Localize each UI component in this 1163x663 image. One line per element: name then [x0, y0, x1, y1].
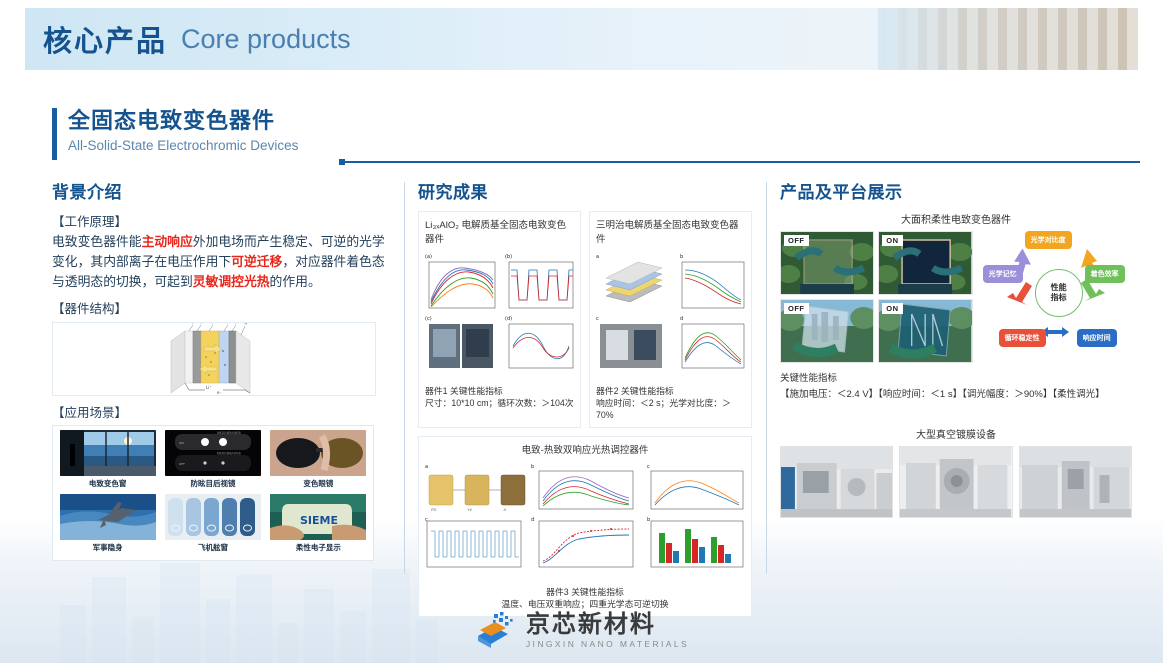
principle-text-1: 电致变色器件能 — [52, 234, 142, 249]
principle-label: 【工作原理】 — [52, 211, 392, 230]
section-title-cn: 全固态电致变色器件 — [68, 108, 298, 134]
column-background: 背景介绍 【工作原理】 电致变色器件能主动响应外加电场而产生稳定、可逆的光学变化… — [52, 178, 392, 561]
radial-node-cycling-stability: 循环稳定性 — [999, 329, 1046, 347]
svg-text:ITO: ITO — [431, 508, 437, 512]
svg-text:+V: +V — [467, 508, 473, 512]
section-rule — [345, 161, 1140, 163]
radial-node-coloration-efficiency: 着色效率 — [1085, 265, 1125, 283]
product-photo-grid: OFF ON — [780, 231, 973, 363]
app-scenario-item: ONOFF 防眩目后视镜关闭状态防眩目后视镜开启状态 防眩目后视镜 — [162, 430, 263, 492]
svg-text:Li⁺: Li⁺ — [206, 385, 211, 390]
vacuum-chamber-image-3 — [1020, 447, 1131, 517]
footer-divider — [0, 652, 1163, 653]
header-decorative-image — [878, 8, 1138, 70]
slide-footer: 京芯新材料 JINGXIN NANO MATERIALS — [0, 599, 1163, 663]
principle-text-4: 的作用。 — [270, 274, 321, 289]
principle-highlight-2: 可逆迁移 — [231, 254, 282, 269]
svg-text:(b): (b) — [505, 254, 512, 260]
app-caption: 电致变色窗 — [89, 478, 127, 489]
panel-2-caption-line1: 器件2 关键性能指标 — [596, 385, 745, 397]
svg-text:a: a — [425, 464, 428, 470]
svg-text:c: c — [596, 316, 599, 322]
radial-node-response-time: 响应时间 — [1077, 329, 1117, 347]
column-products: 产品及平台展示 大面积柔性电致变色器件 OFF — [780, 178, 1132, 518]
panel-1-figure: (a)(b) (c)(d) — [419, 248, 580, 376]
performance-radial-diagram: 性能 指标 光学对比度 着色效率 响应时间 循环稳定性 光学记忆 — [985, 231, 1132, 351]
panel-2-title: 三明治电解质基全固态电致变色器件 — [590, 212, 751, 248]
company-name-cn: 京芯新材料 — [526, 613, 689, 637]
vacuum-photo — [899, 446, 1012, 518]
panel-2-caption-line2: 响应时间：＜2 s；光学对比度：＞70% — [596, 397, 745, 421]
section-accent-bar — [52, 108, 57, 160]
vacuum-chamber-image-1 — [781, 447, 892, 517]
section-title: 全固态电致变色器件 All-Solid-State Electrochromic… — [52, 108, 298, 160]
svg-text:防眩目后视镜开启状态: 防眩目后视镜开启状态 — [217, 451, 242, 455]
research-panel-1: Li₃ₓAlO₂ 电解质基全固态电致变色器件 (a)(b) (c)(d) — [418, 211, 581, 428]
svg-text:(c): (c) — [425, 316, 432, 322]
research-panel-2: 三明治电解质基全固态电致变色器件 ab cd — [589, 211, 752, 428]
photo-state-badge: OFF — [784, 235, 809, 246]
radial-center-line2: 指标 — [1051, 293, 1067, 302]
radial-center-line1: 性能 — [1051, 283, 1067, 292]
app-caption: 防眩目后视镜 — [190, 478, 235, 489]
svg-text:ON: ON — [179, 441, 184, 445]
app-caption: 变色眼镜 — [303, 478, 333, 489]
product-photo: ON — [878, 299, 972, 363]
vacuum-photo — [780, 446, 893, 518]
app-caption: 柔性电子显示 — [296, 542, 341, 553]
vacuum-equipment-grid — [780, 446, 1132, 518]
svg-text:透明电极: 透明电极 — [242, 323, 252, 325]
anti-glare-mirror-image: ONOFF 防眩目后视镜关闭状态防眩目后视镜开启状态 — [165, 430, 261, 476]
panel-1-caption-line1: 器件1 关键性能指标 — [425, 385, 574, 397]
panel-3-title: 电致-热致双响应光热调控器件 — [419, 437, 751, 459]
app-scenario-item: 变色眼镜 — [268, 430, 369, 492]
product-photo: OFF — [780, 231, 874, 295]
principle-highlight-1: 主动响应 — [142, 234, 193, 249]
principle-paragraph: 电致变色器件能主动响应外加电场而产生稳定、可逆的光学变化，其内部离子在电压作用下… — [52, 232, 392, 292]
vacuum-equipment-title: 大型真空镀膜设备 — [780, 426, 1132, 441]
column-divider-2 — [766, 182, 767, 574]
panel-1-caption-line2: 尺寸：10*10 cm；循环次数：＞104次 — [425, 397, 574, 409]
panel-2-caption: 器件2 关键性能指标 响应时间：＜2 s；光学对比度：＞70% — [590, 381, 751, 427]
svg-text:e⁻: e⁻ — [217, 390, 222, 395]
panel-2-figure: ab cd — [590, 248, 751, 376]
svg-text:SIEME: SIEME — [300, 514, 338, 527]
app-scenario-item: 军事隐身 — [57, 494, 158, 556]
svg-text:a: a — [596, 254, 599, 260]
column-divider-1 — [404, 182, 405, 574]
svg-text:b: b — [531, 464, 534, 470]
radial-node-optical-contrast: 光学对比度 — [1025, 231, 1072, 249]
principle-highlight-3: 灵敏调控光热 — [193, 274, 270, 289]
vacuum-chamber-image-2 — [900, 447, 1011, 517]
company-name-en: JINGXIN NANO MATERIALS — [526, 639, 689, 649]
svg-text:(a): (a) — [425, 254, 432, 260]
flexible-display-image: SIEME — [270, 494, 366, 540]
structure-label: 【器件结构】 — [52, 298, 392, 317]
flexible-device-title: 大面积柔性电致变色器件 — [780, 211, 1132, 226]
right-column-title: 产品及平台展示 — [780, 178, 1132, 203]
photo-state-badge: ON — [882, 235, 902, 246]
metrics-line: 【施加电压：＜2.4 V】【响应时间：＜1 s】【调光幅度：＞90%】【柔性调光… — [780, 386, 1132, 400]
app-scenario-item: 电致变色窗 — [57, 430, 158, 492]
svg-text:透明电极: 透明电极 — [197, 323, 207, 324]
military-stealth-image — [60, 494, 156, 540]
app-scenario-item: SIEME 柔性电子显示 — [268, 494, 369, 556]
svg-text:c: c — [647, 464, 650, 470]
svg-text:d: d — [680, 316, 683, 322]
product-photo: OFF — [780, 299, 874, 363]
radial-center-node: 性能 指标 — [1035, 269, 1083, 317]
research-panel-3: 电致-热致双响应光热调控器件 abc cdb ITO+V-V — [418, 436, 752, 617]
metrics-title: 关键性能指标 — [780, 370, 1132, 384]
research-panel-row: Li₃ₓAlO₂ 电解质基全固态电致变色器件 (a)(b) (c)(d) — [418, 211, 752, 428]
photo-state-badge: OFF — [784, 303, 809, 314]
svg-text:b: b — [647, 517, 650, 523]
svg-text:(d): (d) — [505, 316, 512, 322]
panel-3-caption-line1: 器件3 关键性能指标 — [425, 586, 745, 598]
application-label: 【应用场景】 — [52, 402, 392, 421]
svg-text:OFF: OFF — [179, 462, 185, 466]
product-photo: ON — [878, 231, 972, 295]
device-structure-figure: 玻璃基底 透明电极 电致变色层 电解质层 离子存储层 透明电极 Li⁺ e⁻ — [52, 322, 376, 396]
app-caption: 军事隐身 — [93, 542, 123, 553]
company-logo-icon — [474, 612, 516, 650]
svg-text:b: b — [680, 254, 683, 260]
device-structure-svg: 玻璃基底 透明电极 电致变色层 电解质层 离子存储层 透明电极 Li⁺ e⁻ — [53, 323, 375, 395]
panel-3-figure: abc cdb ITO+V-V — [419, 459, 751, 577]
panel-1-caption: 器件1 关键性能指标 尺寸：10*10 cm；循环次数：＞104次 — [419, 381, 580, 415]
radial-node-optical-memory: 光学记忆 — [983, 265, 1023, 283]
middle-column-title: 研究成果 — [418, 178, 752, 203]
section-title-en: All-Solid-State Electrochromic Devices — [68, 136, 298, 156]
vacuum-photo — [1019, 446, 1132, 518]
photochromic-glasses-image — [270, 430, 366, 476]
logo-mark-svg — [474, 612, 516, 650]
panel-1-title: Li₃ₓAlO₂ 电解质基全固态电致变色器件 — [419, 212, 580, 248]
header-title-en: Core products — [181, 24, 351, 55]
svg-text:d: d — [531, 517, 534, 523]
header-title-cn: 核心产品 — [43, 18, 167, 60]
ec-window-image — [60, 430, 156, 476]
application-scenarios-grid: 电致变色窗 ONOFF 防眩目后视镜关闭状态防眩目后视镜开启状态 防眩目 — [52, 425, 374, 561]
column-research: 研究成果 Li₃ₓAlO₂ 电解质基全固态电致变色器件 (a)(b) (c)(d… — [418, 178, 752, 617]
svg-text:电致变色层: 电致变色层 — [209, 323, 220, 324]
photo-state-badge: ON — [882, 303, 902, 314]
svg-text:防眩目后视镜关闭状态: 防眩目后视镜关闭状态 — [217, 430, 242, 434]
left-column-title: 背景介绍 — [52, 178, 392, 203]
slide-header: 核心产品 Core products — [25, 8, 1138, 70]
slide-canvas: 核心产品 Core products 全固态电致变色器件 All-Solid-S… — [0, 0, 1163, 663]
app-scenario-item: 飞机舷窗 — [162, 494, 263, 556]
app-caption: 飞机舷窗 — [198, 542, 228, 553]
aircraft-window-image — [165, 494, 261, 540]
